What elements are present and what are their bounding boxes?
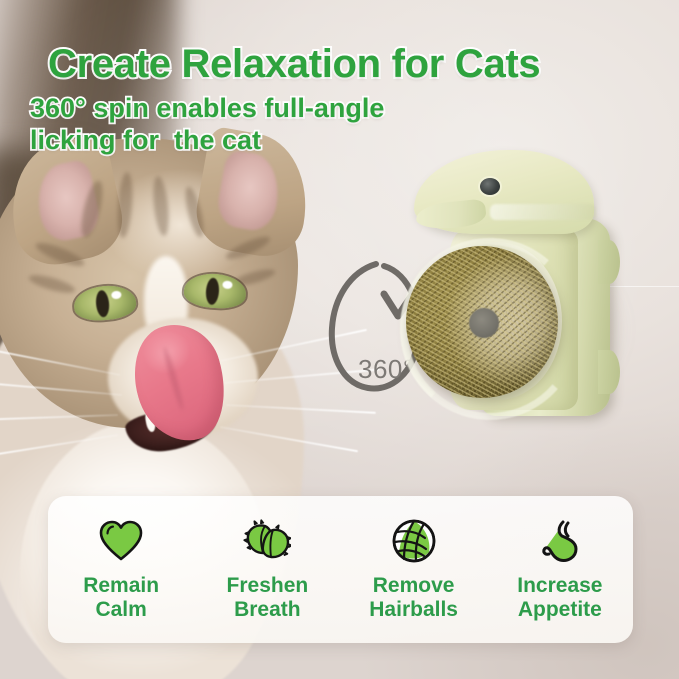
stomach-icon (537, 516, 583, 566)
cat-head (0, 138, 298, 428)
page-title: Create Relaxation for Cats (48, 42, 540, 87)
product-bird-head-top (414, 150, 594, 234)
cat-stripe (27, 272, 76, 297)
feature-label: Remain Calm (83, 574, 159, 622)
cat-eye-glint-right (222, 281, 233, 290)
feature-label: Remove Hairballs (369, 574, 458, 622)
cat-eye-glint-left (111, 291, 122, 300)
feature-item-remove-hairballs: Remove Hairballs (344, 516, 484, 622)
catnip-ball (406, 246, 558, 398)
feature-label: Freshen Breath (227, 574, 309, 622)
subheading: 360° spin enables full-angle licking for… (30, 93, 384, 157)
feature-label: Increase Appetite (517, 574, 602, 622)
catnip-ball-center-dot (469, 308, 499, 338)
cat-stripe (151, 175, 171, 236)
product-image (398, 142, 650, 442)
product-lid-seam (490, 204, 596, 220)
cat-stripe (116, 172, 135, 239)
feature-item-remain-calm: Remain Calm (51, 516, 191, 622)
feature-item-freshen-breath: Freshen Breath (197, 516, 337, 622)
product-beak-tip (415, 198, 487, 231)
product-eye-dot (480, 178, 500, 195)
mint-leaf-icon (243, 516, 291, 566)
feature-item-increase-appetite: Increase Appetite (490, 516, 630, 622)
product-marketing-image: 360° Create Relaxation for Cats 360° spi… (0, 0, 679, 679)
cat-tongue-crease (162, 346, 186, 411)
hairball-icon (391, 516, 437, 566)
cat-ear-inner-right (214, 149, 284, 234)
cat-pupil-left (95, 290, 110, 318)
heart-icon (98, 516, 144, 566)
feature-benefits-card: Remain Calm Freshen Breath (48, 496, 633, 643)
cat-pupil-right (205, 277, 220, 305)
cat-eye-left (73, 283, 138, 322)
